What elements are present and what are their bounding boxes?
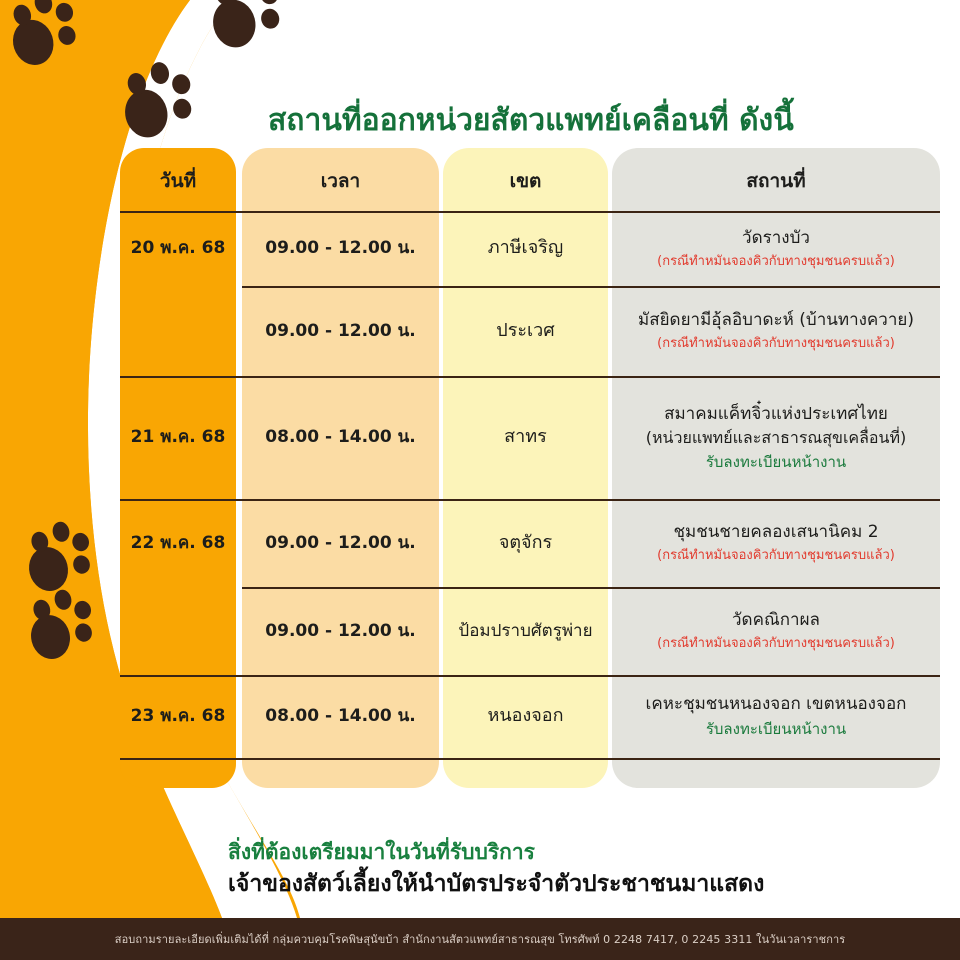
schedule-table: วันที่ เวลา เขต สถานที่ 20 พ.ค. 68 09.00… <box>120 148 940 788</box>
table-header-place: สถานที่ <box>612 154 940 210</box>
cell-date-3: 22 พ.ค. 68 <box>120 499 236 587</box>
cell-time-0: 09.00 - 12.00 น. <box>242 211 439 286</box>
table-header-time: เวลา <box>242 154 439 210</box>
place-name-3: ชุมชนชายคลองเสนานิคม 2 <box>673 521 878 544</box>
cell-time-4: 09.00 - 12.00 น. <box>242 587 439 675</box>
contact-bar: สอบถามรายละเอียดเพิ่มเติมได้ที่ กลุ่มควบ… <box>0 918 960 960</box>
place-name-0: วัดรางบัว <box>742 227 810 250</box>
cell-zone-3: จตุจักร <box>443 499 608 587</box>
cell-place-2: สมาคมแค็ทจิ๋วแห่งประเทศไทย (หน่วยแพทย์แล… <box>612 376 940 499</box>
place-note-green-2: รับลงทะเบียนหน้างาน <box>706 452 846 472</box>
place-name-5: เคหะชุมชนหนองจอก เขตหนองจอก <box>646 693 907 716</box>
cell-time-1: 09.00 - 12.00 น. <box>242 286 439 376</box>
place-name-2: สมาคมแค็ทจิ๋วแห่งประเทศไทย <box>664 403 888 426</box>
place-note-red-3: (กรณีทำหมันจองคิวกับทางชุมชนครบแล้ว) <box>657 547 895 565</box>
place-note-green-5: รับลงทะเบียนหน้างาน <box>706 719 846 739</box>
place-sub-2: (หน่วยแพทย์และสาธารณสุขเคลื่อนที่) <box>646 427 907 449</box>
place-name-1: มัสยิดยามีอุ้ลอิบาดะห์ (บ้านทางควาย) <box>638 309 914 332</box>
footer-requirements-detail: เจ้าของสัตว์เลี้ยงให้นำบัตรประจำตัวประชา… <box>228 866 764 902</box>
cell-time-2: 08.00 - 14.00 น. <box>242 376 439 499</box>
cell-place-0: วัดรางบัว (กรณีทำหมันจองคิวกับทางชุมชนคร… <box>612 211 940 286</box>
place-note-red-4: (กรณีทำหมันจองคิวกับทางชุมชนครบแล้ว) <box>657 635 895 653</box>
cell-date-5: 23 พ.ค. 68 <box>120 675 236 758</box>
footer-requirements-heading: สิ่งที่ต้องเตรียมมาในวันที่รับบริการ <box>228 836 535 869</box>
table-header-date: วันที่ <box>120 154 236 210</box>
cell-zone-5: หนองจอก <box>443 675 608 758</box>
cell-zone-1: ประเวศ <box>443 286 608 376</box>
cell-time-5: 08.00 - 14.00 น. <box>242 675 439 758</box>
table-header-zone: เขต <box>443 154 608 210</box>
page-title: สถานที่ออกหน่วยสัตวแพทย์เคลื่อนที่ ดังนี… <box>268 104 794 137</box>
place-note-red-0: (กรณีทำหมันจองคิวกับทางชุมชนครบแล้ว) <box>657 253 895 271</box>
cell-place-4: วัดคณิกาผล (กรณีทำหมันจองคิวกับทางชุมชนค… <box>612 587 940 675</box>
cell-time-3: 09.00 - 12.00 น. <box>242 499 439 587</box>
place-note-red-1: (กรณีทำหมันจองคิวกับทางชุมชนครบแล้ว) <box>657 335 895 353</box>
cell-date-2: 21 พ.ค. 68 <box>120 376 236 499</box>
cell-date-0: 20 พ.ค. 68 <box>120 211 236 286</box>
cell-place-3: ชุมชนชายคลองเสนานิคม 2 (กรณีทำหมันจองคิว… <box>612 499 940 587</box>
cell-place-5: เคหะชุมชนหนองจอก เขตหนองจอก รับลงทะเบียน… <box>612 675 940 758</box>
place-name-4: วัดคณิกาผล <box>732 609 820 632</box>
cell-zone-0: ภาษีเจริญ <box>443 211 608 286</box>
cell-place-1: มัสยิดยามีอุ้ลอิบาดะห์ (บ้านทางควาย) (กร… <box>612 286 940 376</box>
contact-bar-text: สอบถามรายละเอียดเพิ่มเติมได้ที่ กลุ่มควบ… <box>115 930 846 948</box>
poster-canvas: สถานที่ออกหน่วยสัตวแพทย์เคลื่อนที่ ดังนี… <box>0 0 960 960</box>
row-divider-5 <box>120 758 940 760</box>
cell-zone-2: สาทร <box>443 376 608 499</box>
cell-zone-4: ป้อมปราบศัตรูพ่าย <box>443 587 608 675</box>
